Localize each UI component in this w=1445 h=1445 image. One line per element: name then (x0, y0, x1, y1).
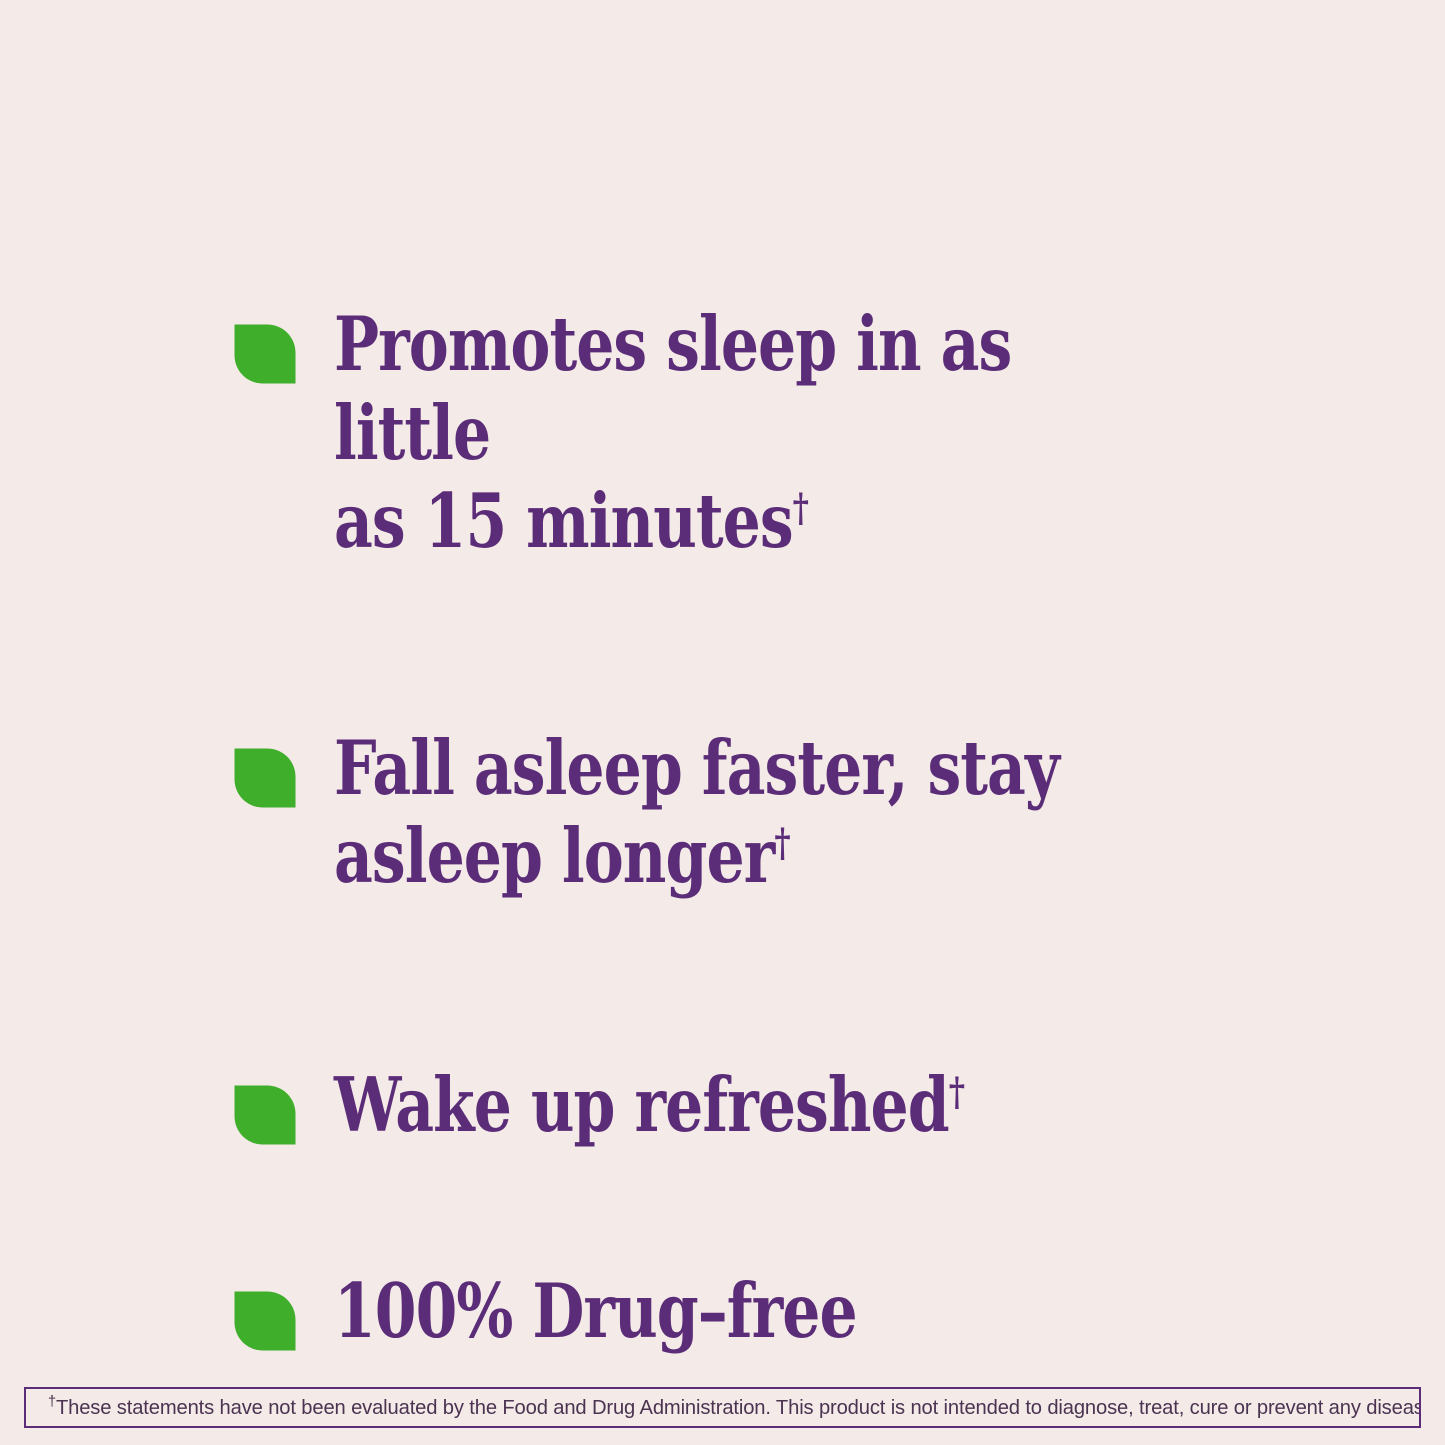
benefit-item-drug-free: 100% Drug–free (234, 1267, 1284, 1356)
fda-disclaimer-text: †These statements have not been evaluate… (48, 1396, 1421, 1420)
leaf-icon (234, 1085, 296, 1145)
leaf-icon (234, 1291, 296, 1351)
benefit-label: Promotes sleep in as little as 15 minute… (334, 300, 1094, 566)
dagger-symbol: † (48, 1394, 56, 1410)
fda-disclaimer-box: †These statements have not been evaluate… (24, 1387, 1421, 1428)
benefit-label: Fall asleep faster, stay asleep longer† (334, 724, 1059, 901)
benefit-item-wake-up-refreshed: Wake up refreshed† (234, 1061, 1284, 1150)
benefit-label: Wake up refreshed† (334, 1061, 965, 1150)
benefit-label: 100% Drug–free (334, 1267, 857, 1356)
dagger-symbol: † (774, 820, 790, 866)
leaf-icon (234, 324, 296, 384)
benefit-item-promotes-sleep: Promotes sleep in as little as 15 minute… (234, 300, 1284, 566)
product-benefits-panel: Promotes sleep in as little as 15 minute… (0, 0, 1445, 1445)
dagger-symbol: † (949, 1069, 965, 1115)
benefits-list: Promotes sleep in as little as 15 minute… (234, 300, 1284, 1356)
dagger-symbol: † (793, 485, 809, 531)
benefit-item-fall-asleep-faster: Fall asleep faster, stay asleep longer† (234, 724, 1284, 901)
leaf-icon (234, 748, 296, 808)
